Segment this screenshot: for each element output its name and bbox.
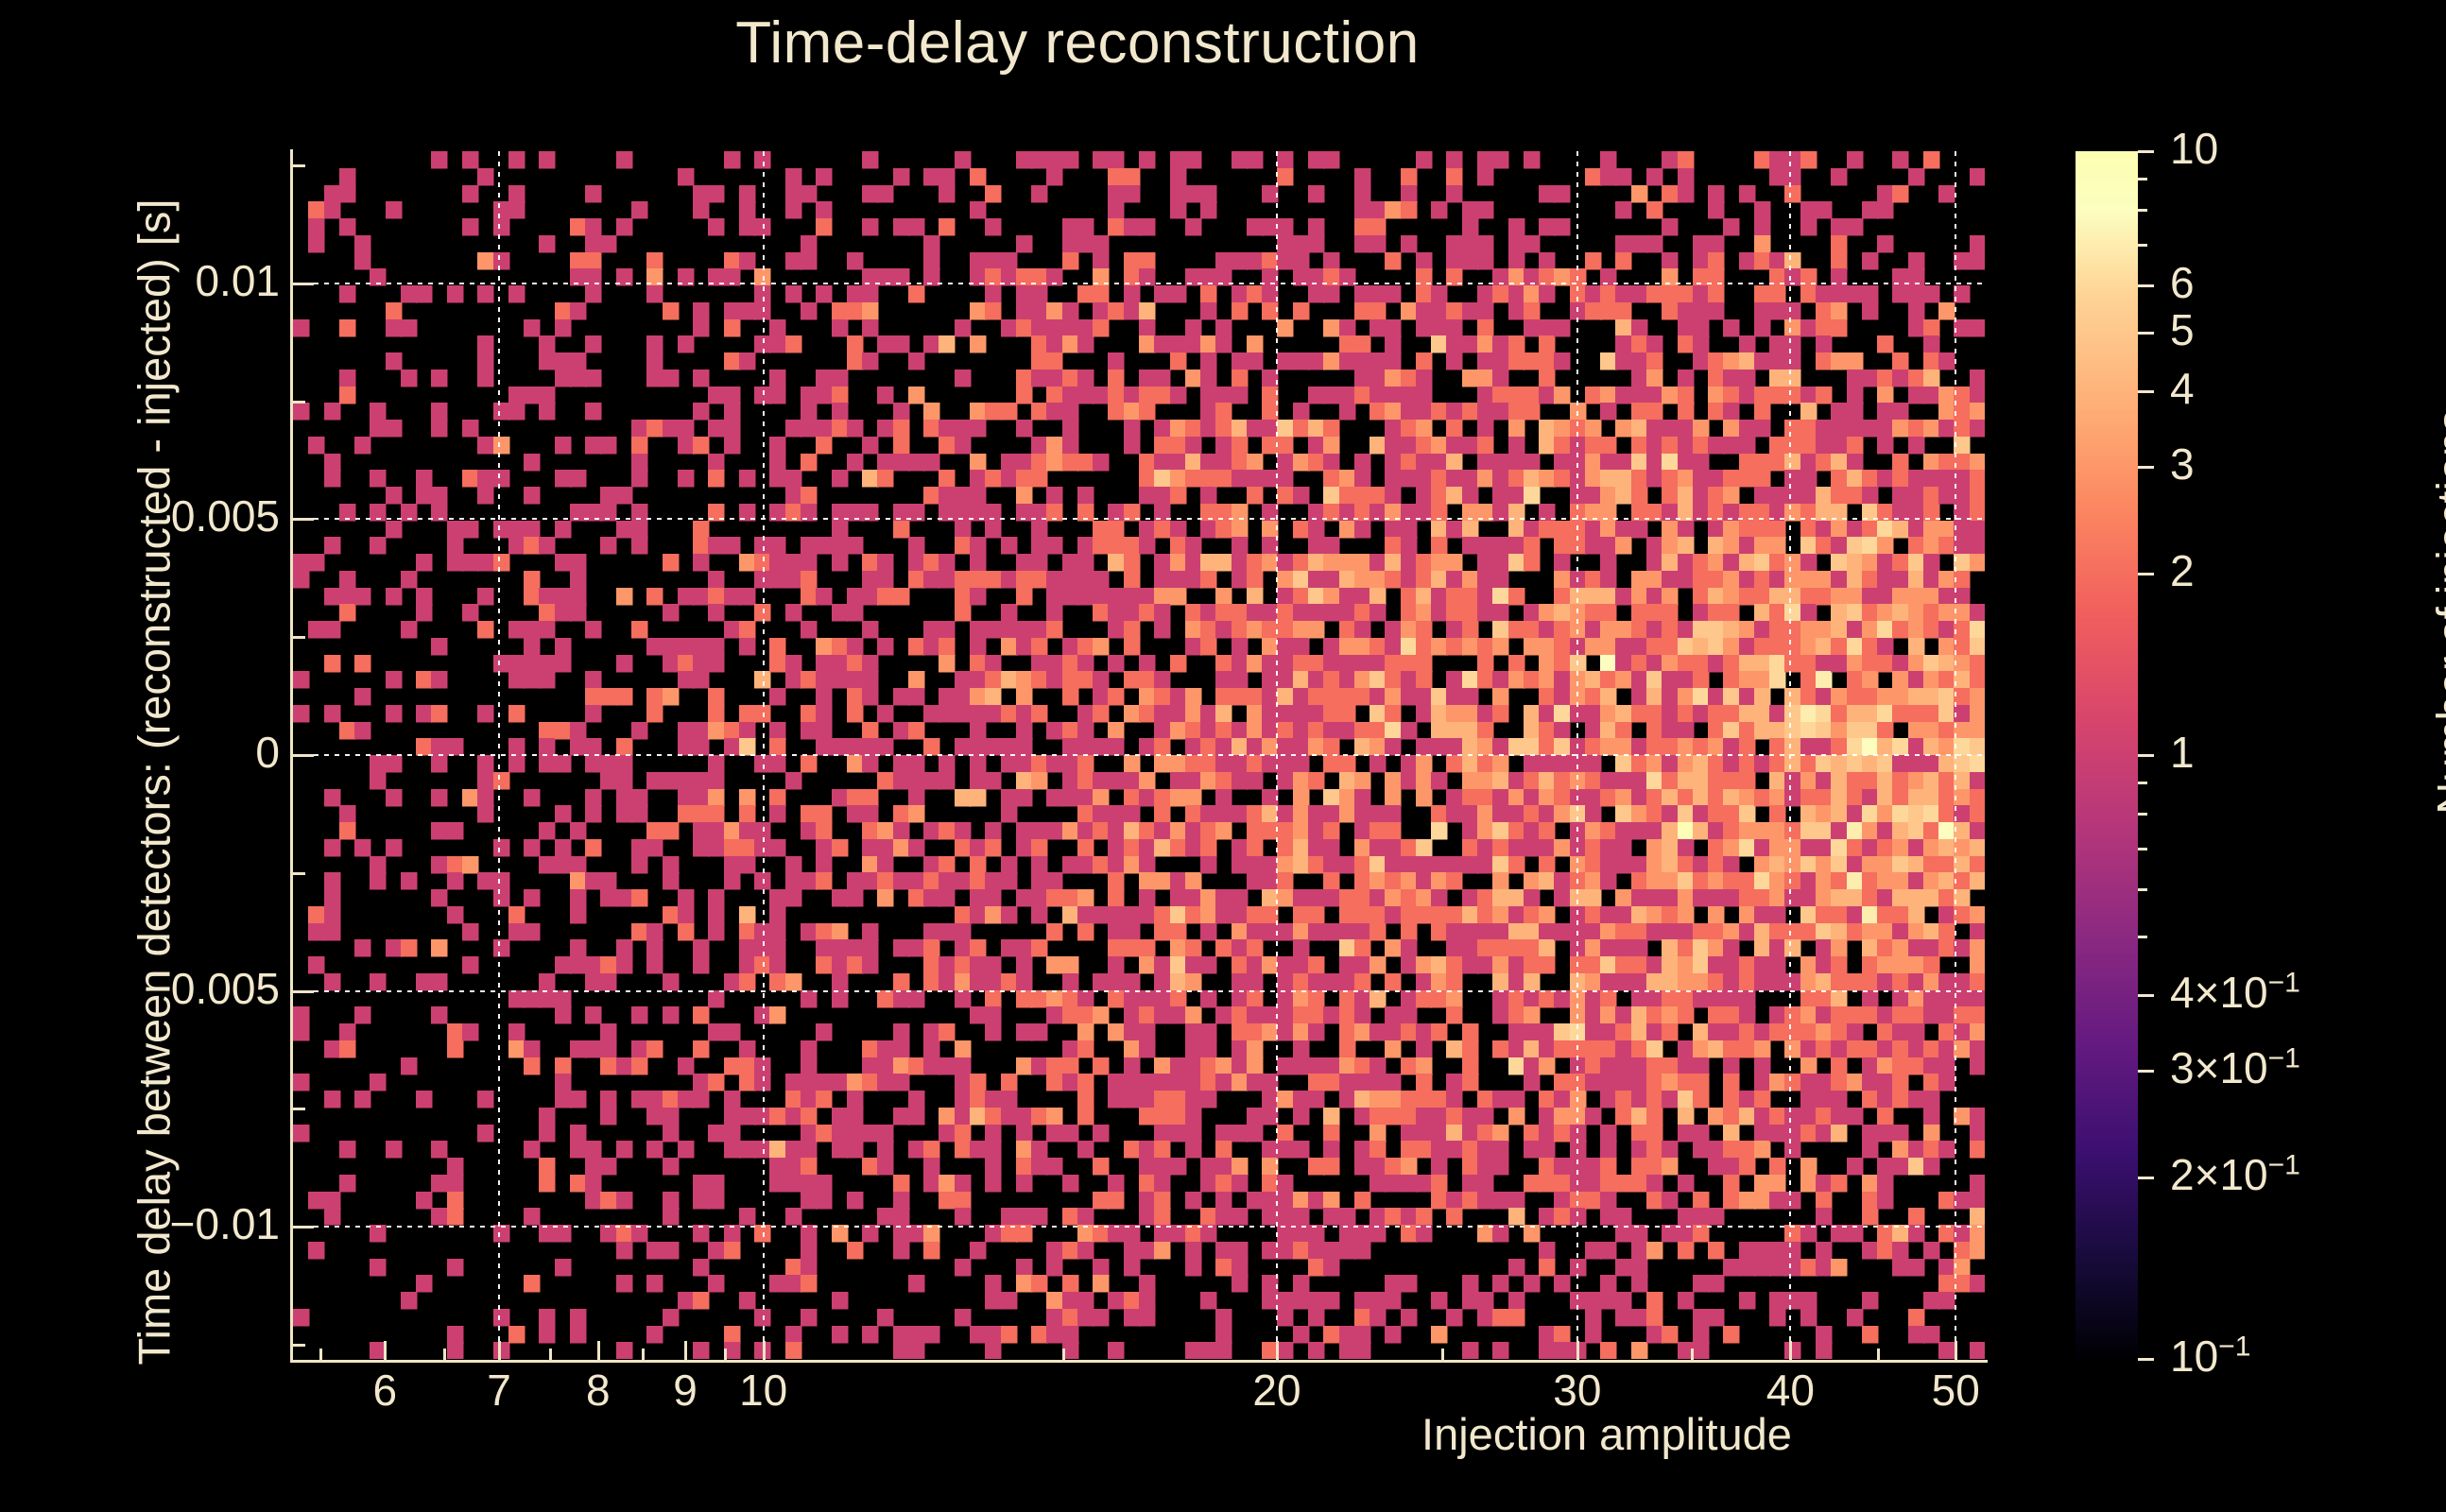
x-axis-title: Injection amplitude: [1229, 1408, 1985, 1460]
colorbar-tick-5: [2138, 573, 2154, 576]
y-minor-tick-4: [293, 401, 305, 404]
x-tick-1: [498, 1341, 501, 1360]
gridline-horizontal-3: [293, 990, 1985, 992]
gridline-vertical-4: [1789, 151, 1791, 1359]
colorbar: [2076, 151, 2138, 1359]
x-minor-tick-0: [319, 1349, 322, 1360]
colorbar-tick-label-2: 5: [2170, 308, 2195, 352]
y-minor-tick-2: [293, 872, 305, 875]
x-tick-2: [597, 1341, 600, 1360]
colorbar-minor-tick-5: [2138, 848, 2147, 850]
x-minor-tick-6: [1441, 1349, 1444, 1360]
colorbar-tick-label-8: 3×10−1: [2170, 1046, 2300, 1090]
x-tick-label-7: 40: [1714, 1368, 1866, 1412]
chart-root: Time-delay reconstruction 0.010.0050−0.0…: [0, 0, 2446, 1512]
x-minor-tick-3: [642, 1349, 645, 1360]
x-axis-line: [290, 1360, 1988, 1363]
colorbar-tick-8: [2138, 1070, 2154, 1073]
colorbar-minor-tick-4: [2138, 813, 2147, 816]
y-minor-tick-5: [293, 164, 305, 167]
y-tick-label-4: −0.01: [170, 1202, 280, 1246]
x-minor-tick-1: [443, 1349, 446, 1360]
colorbar-title: Number of injections: [2427, 225, 2446, 1000]
colorbar-tick-4: [2138, 466, 2154, 469]
colorbar-minor-tick-1: [2138, 209, 2147, 212]
y-tick-0: [293, 283, 314, 285]
colorbar-minor-tick-7: [2138, 936, 2147, 938]
gridline-vertical-5: [1955, 151, 1956, 1359]
colorbar-tick-label-9: 2×10−1: [2170, 1153, 2300, 1196]
y-minor-tick-1: [293, 1108, 305, 1110]
colorbar-tick-0: [2138, 150, 2154, 153]
y-tick-4: [293, 1226, 314, 1228]
y-tick-label-2: 0: [255, 730, 280, 774]
x-tick-label-4: 10: [688, 1368, 839, 1412]
x-tick-7: [1789, 1341, 1792, 1360]
y-tick-2: [293, 754, 314, 757]
colorbar-minor-tick-0: [2138, 178, 2147, 180]
gridline-vertical-0: [498, 151, 500, 1359]
y-minor-tick-3: [293, 636, 305, 639]
colorbar-tick-label-0: 10: [2170, 127, 2218, 170]
colorbar-tick-6: [2138, 754, 2154, 757]
x-tick-5: [1276, 1341, 1279, 1360]
colorbar-minor-tick-6: [2138, 888, 2147, 891]
colorbar-minor-tick-2: [2138, 244, 2147, 247]
colorbar-tick-7: [2138, 994, 2154, 997]
y-tick-3: [293, 990, 314, 993]
colorbar-tick-label-4: 3: [2170, 442, 2195, 486]
x-tick-3: [684, 1341, 687, 1360]
colorbar-minor-tick-3: [2138, 782, 2147, 784]
y-tick-label-1: 0.005: [171, 494, 280, 538]
gridline-vertical-2: [1276, 151, 1278, 1359]
x-minor-tick-7: [1691, 1349, 1694, 1360]
x-minor-tick-4: [724, 1349, 727, 1360]
heatmap-plot-area: [293, 151, 1985, 1359]
gridline-horizontal-4: [293, 1226, 1985, 1228]
y-tick-label-0: 0.01: [195, 259, 280, 302]
colorbar-tick-label-1: 6: [2170, 261, 2195, 304]
x-tick-label-8: 50: [1880, 1368, 2031, 1412]
x-tick-4: [763, 1341, 766, 1360]
gridline-vertical-1: [763, 151, 765, 1359]
colorbar-tick-label-7: 4×10−1: [2170, 971, 2300, 1014]
colorbar-tick-label-10: 10−1: [2170, 1334, 2250, 1378]
x-tick-label-6: 30: [1502, 1368, 1653, 1412]
y-tick-1: [293, 518, 314, 521]
gridline-horizontal-1: [293, 518, 1985, 520]
colorbar-tick-1: [2138, 284, 2154, 287]
colorbar-tick-3: [2138, 390, 2154, 393]
colorbar-gradient: [2076, 151, 2138, 1359]
gridline-vertical-3: [1576, 151, 1578, 1359]
colorbar-tick-label-3: 4: [2170, 367, 2195, 410]
y-axis-title: Time delay between detectors: (reconstru…: [129, 159, 181, 1406]
colorbar-tick-label-5: 2: [2170, 549, 2195, 593]
colorbar-tick-2: [2138, 332, 2154, 335]
x-minor-tick-5: [1062, 1349, 1065, 1360]
gridline-horizontal-0: [293, 283, 1985, 284]
colorbar-tick-10: [2138, 1358, 2154, 1361]
x-minor-tick-8: [1877, 1349, 1880, 1360]
colorbar-tick-label-6: 1: [2170, 730, 2195, 774]
gridline-horizontal-2: [293, 754, 1985, 756]
page-title: Time-delay reconstruction: [0, 9, 2155, 77]
x-tick-8: [1955, 1341, 1957, 1360]
x-minor-tick-2: [549, 1349, 552, 1360]
y-minor-tick-0: [293, 1344, 305, 1347]
x-tick-label-5: 20: [1201, 1368, 1352, 1412]
colorbar-tick-9: [2138, 1177, 2154, 1179]
x-tick-6: [1576, 1341, 1579, 1360]
x-tick-0: [384, 1341, 387, 1360]
